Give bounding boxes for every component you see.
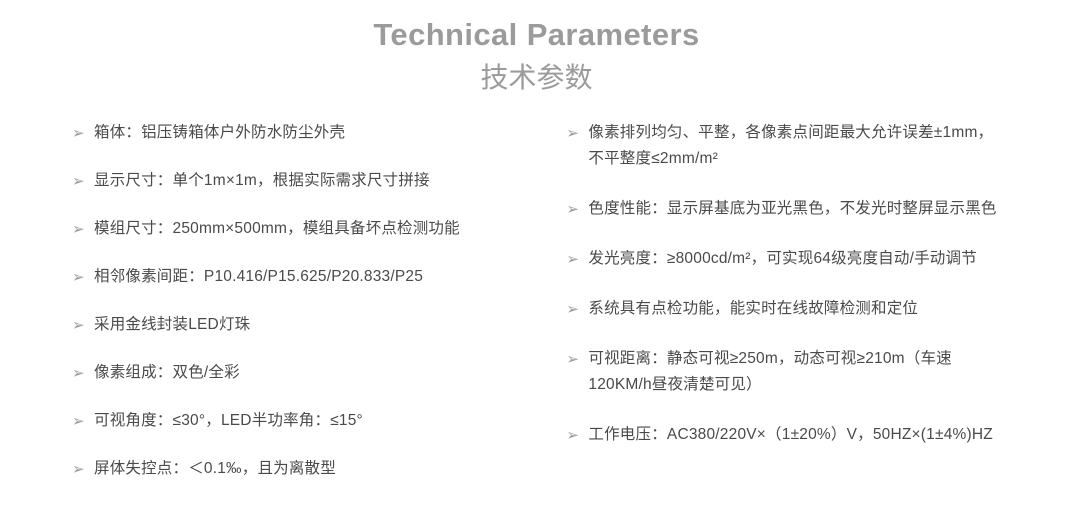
list-item-label: 像素排列均匀、平整，各像素点间距最大允许误差±1mm，不平整度≤2mm/m² xyxy=(588,120,1007,172)
list-item: ➢ 发光亮度：≥8000cd/m²，可实现64级亮度自动/手动调节 xyxy=(566,246,1007,272)
list-item: ➢ 系统具有点检功能，能实时在线故障检测和定位 xyxy=(566,296,1007,322)
technical-parameters-page: Technical Parameters 技术参数 ➢ 箱体：铝压铸箱体户外防水… xyxy=(0,0,1073,523)
list-item: ➢ 屏体失控点：＜0.1‰，且为离散型 xyxy=(72,456,548,482)
list-item: ➢ 可视角度：≤30°，LED半功率角：≤15° xyxy=(72,408,548,434)
arrow-bullet-icon: ➢ xyxy=(566,346,588,372)
arrow-bullet-icon: ➢ xyxy=(72,456,94,482)
list-item: ➢ 箱体：铝压铸箱体户外防水防尘外壳 xyxy=(72,120,548,146)
arrow-bullet-icon: ➢ xyxy=(566,196,588,222)
list-item-label: 箱体：铝压铸箱体户外防水防尘外壳 xyxy=(94,120,345,146)
list-item: ➢ 可视距离：静态可视≥250m，动态可视≥210m（车速120KM/h昼夜清楚… xyxy=(566,346,1007,398)
arrow-bullet-icon: ➢ xyxy=(566,422,588,448)
page-title-english: Technical Parameters xyxy=(0,14,1073,56)
arrow-bullet-icon: ➢ xyxy=(72,120,94,146)
parameters-columns: ➢ 箱体：铝压铸箱体户外防水防尘外壳 ➢ 显示尺寸：单个1m×1m，根据实际需求… xyxy=(0,120,1073,504)
list-item-label: 系统具有点检功能，能实时在线故障检测和定位 xyxy=(588,296,918,322)
list-item-label: 显示尺寸：单个1m×1m，根据实际需求尺寸拼接 xyxy=(94,168,430,194)
list-item-label: 发光亮度：≥8000cd/m²，可实现64级亮度自动/手动调节 xyxy=(588,246,977,272)
list-item: ➢ 工作电压：AC380/220V×（1±20%）V，50HZ×(1±4%)HZ xyxy=(566,422,1007,448)
arrow-bullet-icon: ➢ xyxy=(566,296,588,322)
list-item: ➢ 采用金线封装LED灯珠 xyxy=(72,312,548,338)
list-item-label: 采用金线封装LED灯珠 xyxy=(94,312,250,338)
list-item-label: 屏体失控点：＜0.1‰，且为离散型 xyxy=(94,456,336,482)
arrow-bullet-icon: ➢ xyxy=(72,264,94,290)
list-item: ➢ 模组尺寸：250mm×500mm，模组具备坏点检测功能 xyxy=(72,216,548,242)
arrow-bullet-icon: ➢ xyxy=(566,246,588,272)
page-title-block: Technical Parameters 技术参数 xyxy=(0,0,1073,98)
list-item-label: 相邻像素间距：P10.416/P15.625/P20.833/P25 xyxy=(94,264,423,290)
parameters-right-column: ➢ 像素排列均匀、平整，各像素点间距最大允许误差±1mm，不平整度≤2mm/m²… xyxy=(566,120,1007,504)
list-item: ➢ 相邻像素间距：P10.416/P15.625/P20.833/P25 xyxy=(72,264,548,290)
list-item-label: 色度性能：显示屏基底为亚光黑色，不发光时整屏显示黑色 xyxy=(588,196,996,222)
arrow-bullet-icon: ➢ xyxy=(566,120,588,146)
arrow-bullet-icon: ➢ xyxy=(72,216,94,242)
arrow-bullet-icon: ➢ xyxy=(72,360,94,386)
list-item-label: 可视角度：≤30°，LED半功率角：≤15° xyxy=(94,408,363,434)
list-item: ➢ 像素组成：双色/全彩 xyxy=(72,360,548,386)
list-item-label: 工作电压：AC380/220V×（1±20%）V，50HZ×(1±4%)HZ xyxy=(588,422,993,448)
parameters-left-column: ➢ 箱体：铝压铸箱体户外防水防尘外壳 ➢ 显示尺寸：单个1m×1m，根据实际需求… xyxy=(72,120,566,504)
list-item: ➢ 显示尺寸：单个1m×1m，根据实际需求尺寸拼接 xyxy=(72,168,548,194)
list-item: ➢ 色度性能：显示屏基底为亚光黑色，不发光时整屏显示黑色 xyxy=(566,196,1007,222)
arrow-bullet-icon: ➢ xyxy=(72,168,94,194)
arrow-bullet-icon: ➢ xyxy=(72,408,94,434)
list-item-label: 像素组成：双色/全彩 xyxy=(94,360,240,386)
list-item: ➢ 像素排列均匀、平整，各像素点间距最大允许误差±1mm，不平整度≤2mm/m² xyxy=(566,120,1007,172)
arrow-bullet-icon: ➢ xyxy=(72,312,94,338)
list-item-label: 可视距离：静态可视≥250m，动态可视≥210m（车速120KM/h昼夜清楚可见… xyxy=(588,346,1007,398)
list-item-label: 模组尺寸：250mm×500mm，模组具备坏点检测功能 xyxy=(94,216,460,242)
page-title-chinese: 技术参数 xyxy=(0,58,1073,98)
